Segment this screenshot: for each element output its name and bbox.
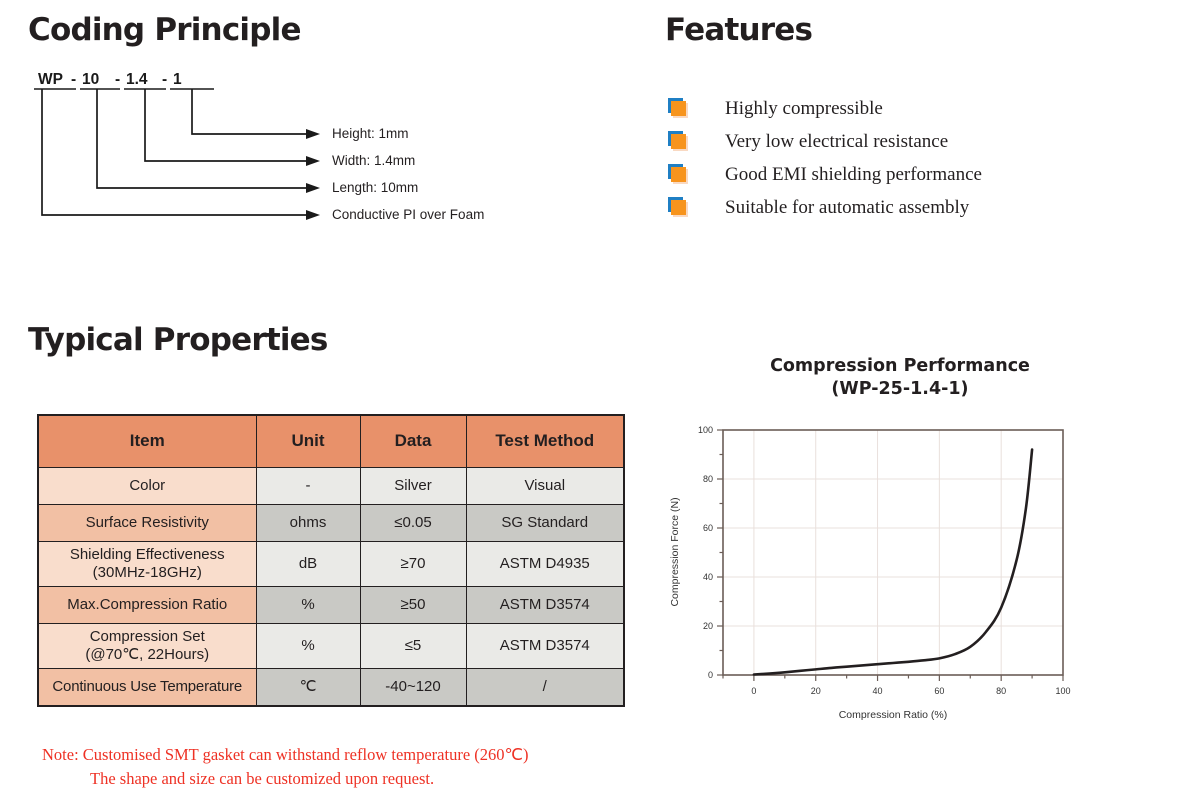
code-separator-2: -: [162, 71, 167, 88]
axis-tick-label: 0: [708, 670, 713, 680]
leader-label-width: Width: 1.4mm: [332, 153, 415, 168]
cell-item: Surface Resistivity: [38, 505, 256, 542]
bullet-square-icon: [668, 164, 690, 186]
axis-tick-label: 80: [703, 474, 713, 484]
note-line-2: The shape and size can be customized upo…: [42, 767, 529, 791]
cell-unit: %: [256, 587, 360, 624]
feature-label: Very low electrical resistance: [725, 131, 948, 153]
feature-label: Good EMI shielding performance: [725, 164, 982, 186]
features-heading: Features: [665, 12, 812, 48]
coding-principle-diagram: WP - 10 - 1.4 - 1: [28, 68, 628, 243]
cell-data: ≥50: [360, 587, 466, 624]
cell-item: Continuous Use Temperature: [38, 669, 256, 706]
feature-label: Highly compressible: [725, 98, 883, 120]
axis-tick-label: 40: [873, 686, 883, 696]
cell-item-line2: (30MHz-18GHz): [93, 564, 202, 581]
axis-tick-label: 20: [811, 686, 821, 696]
bullet-square-icon: [668, 98, 690, 120]
code-token-3: 1: [173, 71, 182, 88]
axis-tick-label: 80: [996, 686, 1006, 696]
chart-ylabel: Compression Force (N): [669, 497, 681, 606]
cell-data: ≤5: [360, 624, 466, 669]
chart-title-sub: (WP-25-1.4-1): [760, 378, 1040, 401]
table-row: Color - Silver Visual: [38, 468, 624, 505]
cell-method: ASTM D3574: [466, 587, 624, 624]
axis-tick-label: 20: [703, 621, 713, 631]
chart-xlabel: Compression Ratio (%): [839, 709, 948, 721]
table-header-row: Item Unit Data Test Method: [38, 415, 624, 468]
typical-properties-table: Item Unit Data Test Method Color - Silve…: [37, 414, 625, 707]
table-row: Continuous Use Temperature ℃ -40~120 /: [38, 669, 624, 706]
cell-data: ≥70: [360, 542, 466, 587]
code-token-2: 1.4: [126, 71, 148, 88]
cell-item-line1: Compression Set: [90, 628, 205, 645]
note-text: Note: Customised SMT gasket can withstan…: [42, 743, 529, 791]
cell-unit: %: [256, 624, 360, 669]
list-item: Highly compressible: [668, 92, 982, 125]
cell-item: Max.Compression Ratio: [38, 587, 256, 624]
list-item: Good EMI shielding performance: [668, 158, 982, 191]
cell-item: Compression Set (@70℃, 22Hours): [38, 624, 256, 669]
axis-tick-label: 100: [698, 425, 713, 435]
cell-unit: ℃: [256, 669, 360, 706]
axis-tick-label: 60: [934, 686, 944, 696]
table-row: Max.Compression Ratio % ≥50 ASTM D3574: [38, 587, 624, 624]
table-row: Compression Set (@70℃, 22Hours) % ≤5 AST…: [38, 624, 624, 669]
cell-unit: ohms: [256, 505, 360, 542]
code-token-0: WP: [38, 71, 63, 88]
note-line-1: Note: Customised SMT gasket can withstan…: [42, 745, 529, 764]
axis-tick-label: 60: [703, 523, 713, 533]
feature-label: Suitable for automatic assembly: [725, 197, 969, 219]
code-token-1: 10: [82, 71, 99, 88]
code-separator-1: -: [115, 71, 120, 88]
cell-method: SG Standard: [466, 505, 624, 542]
list-item: Suitable for automatic assembly: [668, 191, 982, 224]
cell-method: ASTM D4935: [466, 542, 624, 587]
compression-performance-chart: 020406080100020406080100 Compression Rat…: [660, 418, 1085, 728]
cell-unit: dB: [256, 542, 360, 587]
leader-label-material: Conductive PI over Foam: [332, 207, 484, 222]
cell-data: ≤0.05: [360, 505, 466, 542]
cell-method: ASTM D3574: [466, 624, 624, 669]
cell-item-line1: Shielding Effectiveness: [70, 546, 225, 563]
chart-title-main: Compression Performance: [760, 355, 1040, 378]
bullet-square-icon: [668, 197, 690, 219]
cell-item-line2: (@70℃, 22Hours): [85, 646, 209, 663]
features-list: Highly compressible Very low electrical …: [668, 92, 982, 224]
coding-principle-heading: Coding Principle: [28, 12, 301, 48]
table-row: Shielding Effectiveness (30MHz-18GHz) dB…: [38, 542, 624, 587]
cell-method: Visual: [466, 468, 624, 505]
column-header-data: Data: [360, 415, 466, 468]
axis-tick-label: 40: [703, 572, 713, 582]
chart-title: Compression Performance (WP-25-1.4-1): [760, 355, 1040, 401]
cell-item: Color: [38, 468, 256, 505]
cell-method: /: [466, 669, 624, 706]
column-header-unit: Unit: [256, 415, 360, 468]
leader-label-length: Length: 10mm: [332, 180, 418, 195]
axis-tick-label: 0: [751, 686, 756, 696]
leader-label-height: Height: 1mm: [332, 126, 409, 141]
column-header-item: Item: [38, 415, 256, 468]
column-header-method: Test Method: [466, 415, 624, 468]
cell-data: Silver: [360, 468, 466, 505]
bullet-square-icon: [668, 131, 690, 153]
cell-unit: -: [256, 468, 360, 505]
cell-item: Shielding Effectiveness (30MHz-18GHz): [38, 542, 256, 587]
cell-data: -40~120: [360, 669, 466, 706]
table-row: Surface Resistivity ohms ≤0.05 SG Standa…: [38, 505, 624, 542]
list-item: Very low electrical resistance: [668, 125, 982, 158]
axis-tick-label: 100: [1055, 686, 1070, 696]
typical-properties-heading: Typical Properties: [28, 322, 328, 358]
code-separator-0: -: [71, 71, 76, 88]
